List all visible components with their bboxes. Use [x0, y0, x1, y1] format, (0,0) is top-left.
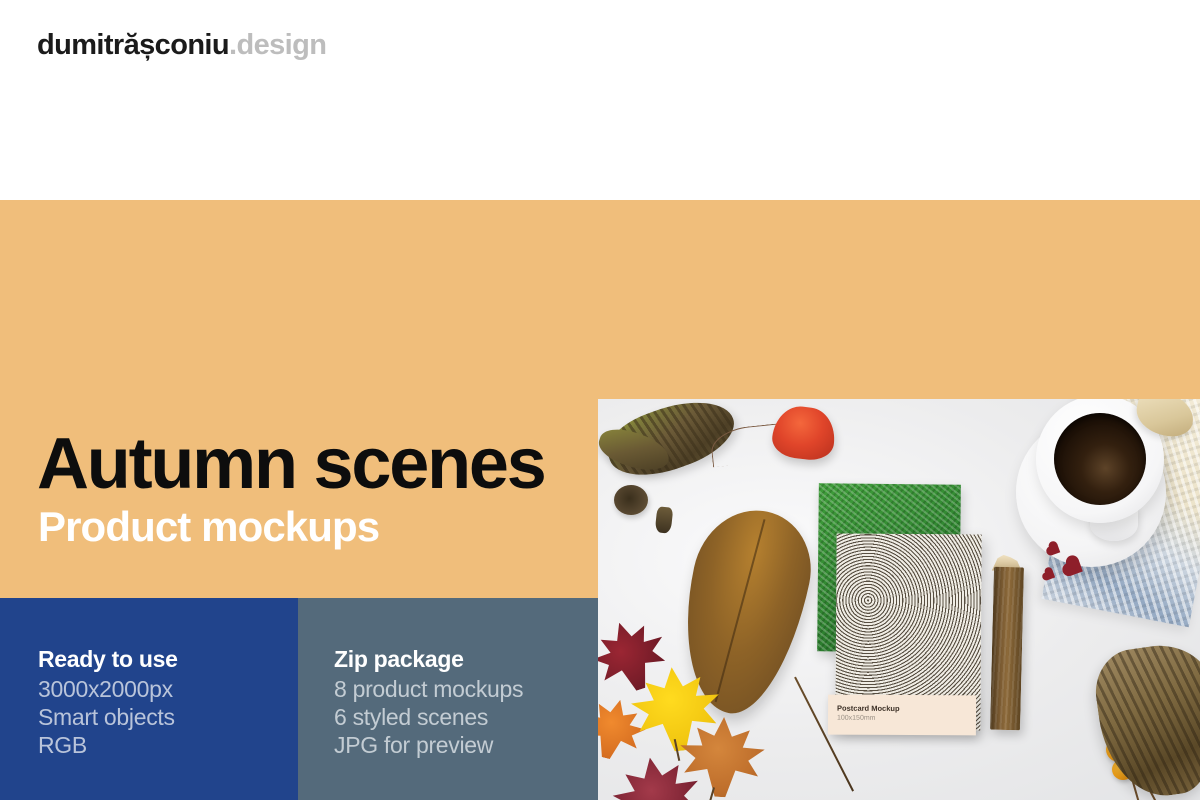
info-panel-zip-package: Zip package 8 product mockups 6 styled s… [298, 598, 598, 800]
panel-line: JPG for preview [334, 731, 523, 759]
panel-line: 8 product mockups [334, 675, 523, 703]
panel-heading: Zip package [334, 645, 523, 674]
page-title: Autumn scenes [37, 426, 545, 502]
info-panel-content: Zip package 8 product mockups 6 styled s… [334, 645, 523, 759]
panel-line: RGB [38, 731, 178, 759]
poster-canvas: dumitrășconiu.design Autumn scenes Produ… [0, 0, 1200, 800]
postcard-mockup: Postcard Mockup 100x150mm [828, 695, 976, 736]
header-bar: dumitrășconiu.design [0, 0, 1200, 200]
branch-knot [614, 485, 648, 515]
info-panel-content: Ready to use 3000x2000px Smart objects R… [38, 645, 178, 759]
brand-suffix: .design [229, 29, 326, 61]
coffee-liquid [1054, 413, 1146, 505]
panel-line: 6 styled scenes [334, 703, 523, 731]
product-photo: Postcard Mockup 100x150mm [598, 399, 1200, 800]
page-subtitle: Product mockups [38, 503, 379, 551]
postcard-size: 100x150mm [837, 715, 876, 722]
panel-line: Smart objects [38, 703, 178, 731]
wooden-pencil [990, 567, 1024, 731]
panel-line: 3000x2000px [38, 675, 178, 703]
brand-name: dumitrășconiu [37, 29, 229, 61]
postcard-title: Postcard Mockup [837, 704, 900, 713]
info-panel-ready-to-use: Ready to use 3000x2000px Smart objects R… [0, 598, 298, 800]
panel-heading: Ready to use [38, 645, 178, 674]
brand-logo[interactable]: dumitrășconiu.design [37, 29, 326, 62]
